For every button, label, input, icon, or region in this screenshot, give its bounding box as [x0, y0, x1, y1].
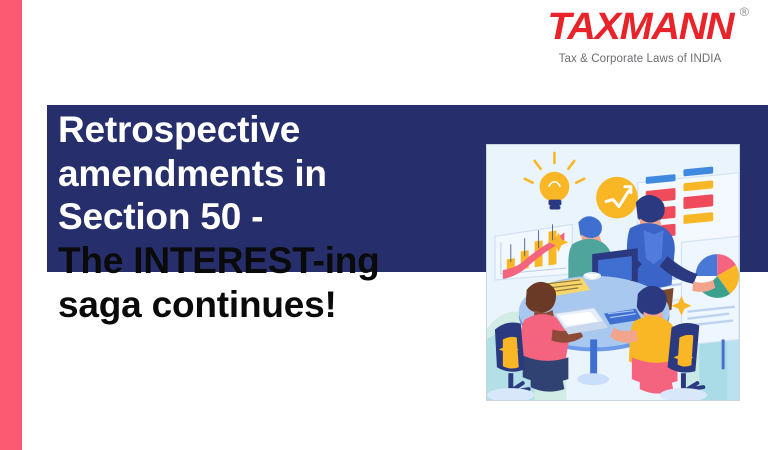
registered-trademark-icon: ® [739, 6, 748, 18]
headline-line-5: saga continues! [58, 283, 478, 327]
banner-canvas: TAXMANN® Tax & Corporate Laws of INDIA R… [0, 0, 768, 450]
team-meeting-illustration [486, 144, 740, 401]
illustration-svg [487, 145, 739, 400]
headline-line-2: amendments in [58, 152, 478, 196]
logo-tagline: Tax & Corporate Laws of INDIA [540, 53, 740, 65]
headline-line-4: The INTEREST-ing [58, 239, 478, 283]
coffee-cup-back [583, 272, 601, 280]
taxmann-logo: TAXMANN® Tax & Corporate Laws of INDIA [540, 8, 740, 65]
left-accent-bar [0, 0, 22, 450]
headline-line-3: Section 50 - [58, 195, 478, 239]
page-title: Retrospective amendments in Section 50 -… [58, 108, 478, 326]
logo-wordmark: TAXMANN® [547, 8, 733, 46]
headline-line-1: Retrospective [58, 108, 478, 152]
